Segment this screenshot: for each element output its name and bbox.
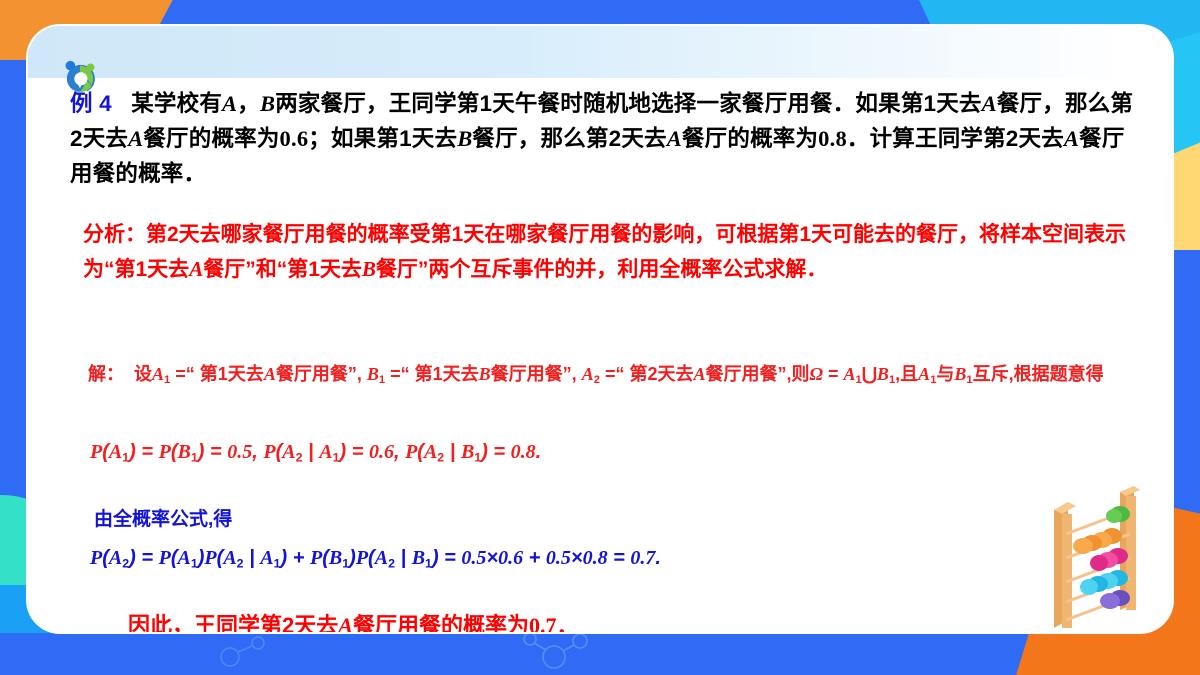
f2-A2: A bbox=[109, 547, 122, 569]
slide-content: 例 4 某学校有A，B两家餐厅，王同学第1天午餐时随机地选择一家餐厅用餐．如果第… bbox=[28, 26, 1174, 634]
solution-var-B: B bbox=[479, 364, 491, 384]
f1-B1-sub: 1 bbox=[191, 450, 198, 464]
f1-bar2: | bbox=[450, 441, 456, 463]
solution-event-A2-sub: 2 bbox=[594, 374, 600, 386]
solution-desc-1-end: 餐厅用餐 bbox=[276, 364, 348, 384]
solution-excl-A1: A bbox=[918, 364, 930, 384]
f2-A1b-sub: 1 bbox=[274, 556, 281, 570]
solution-line2-var: A bbox=[694, 364, 706, 384]
solution-set-word: 设 bbox=[134, 364, 152, 384]
solution-omega: Ω bbox=[810, 364, 823, 384]
solution-event-A2: A bbox=[582, 364, 594, 384]
formula-total-probability: P(A2) = P(A1)P(A2 | A1) + P(B1)P(A2 | B1… bbox=[90, 547, 1090, 570]
problem-text-6: ；如果第1天去 bbox=[308, 126, 457, 151]
abacus-illustration-icon bbox=[1042, 480, 1154, 630]
solution-desc-2-end: 餐厅用餐 bbox=[491, 364, 563, 384]
solution-per-problem: ,根据题意得 bbox=[1009, 364, 1104, 384]
problem-value-06: 0.6 bbox=[280, 126, 309, 151]
f1-A2b-sub: 2 bbox=[437, 450, 444, 464]
solution-eq-3: = bbox=[605, 364, 616, 384]
f1-A2b: A bbox=[424, 441, 437, 463]
f2-P1: P bbox=[90, 547, 102, 569]
problem-value-08: 0.8 bbox=[818, 126, 847, 151]
f2-bar2: | bbox=[401, 547, 407, 569]
solution-union-icon: ⋃ bbox=[862, 364, 877, 384]
f2-B1-sub: 1 bbox=[342, 556, 349, 570]
solution-eq-4: = bbox=[828, 364, 839, 384]
example-label: 例 4 bbox=[70, 91, 112, 116]
problem-comma: ， bbox=[237, 91, 260, 116]
f2-eq1: = bbox=[141, 547, 153, 569]
f1-P3: P bbox=[263, 441, 275, 463]
f1-A1b: A bbox=[319, 441, 332, 463]
solution-desc-1: 第1天去 bbox=[200, 364, 264, 384]
f2-A2b: A bbox=[223, 547, 236, 569]
f2-P3: P bbox=[204, 547, 216, 569]
analysis-heading: 分析： bbox=[83, 223, 146, 246]
f1-eq2: = bbox=[210, 441, 222, 463]
conclusion-period: ． bbox=[556, 613, 578, 634]
f2-val-08: 0.8 bbox=[583, 547, 608, 569]
solution-quote-close-3: ” bbox=[778, 364, 787, 384]
f1-P2: P bbox=[159, 441, 171, 463]
solution-setup-block: 解： 设A1 =“ 第1天去A餐厅用餐”, B1 =“ 第1天去B餐厅用餐”, … bbox=[88, 354, 1118, 400]
f1-P1: P bbox=[90, 441, 102, 463]
f2-plus: + bbox=[293, 547, 305, 569]
conclusion-var-A: A bbox=[338, 613, 353, 634]
solution-heading: 解： bbox=[88, 364, 124, 384]
f2-P5: P bbox=[356, 547, 368, 569]
f2-P2: P bbox=[159, 547, 171, 569]
problem-text-3: 餐．如果第1天去 bbox=[810, 91, 982, 116]
f2-A1: A bbox=[178, 547, 191, 569]
analysis-line-2b: 餐厅”和“第1天去 bbox=[203, 258, 362, 281]
problem-text-8: 厅，那么第2天去 bbox=[495, 126, 667, 151]
problem-text-5: 餐厅的概率为 bbox=[143, 126, 279, 151]
problem-text-2: 两家餐厅，王同学第1天午餐时随机地选择一家餐厅用 bbox=[275, 91, 810, 116]
f2-A2c-sub: 2 bbox=[388, 556, 395, 570]
f1-A2: A bbox=[282, 441, 295, 463]
f2-A1b: A bbox=[260, 547, 273, 569]
solution-desc-3-head: 第 bbox=[629, 364, 647, 384]
f2-eq2: = bbox=[444, 547, 456, 569]
solution-comma-2: , bbox=[572, 364, 577, 384]
f1-A2-sub: 2 bbox=[296, 450, 303, 464]
solution-comma-1: , bbox=[357, 364, 362, 384]
f2-B1b: B bbox=[412, 547, 425, 569]
analysis-line-3: 件的并，利用全概率公式求解． bbox=[533, 258, 827, 281]
problem-var-B2: B bbox=[457, 126, 472, 151]
f2-A2c: A bbox=[375, 547, 388, 569]
solution-var-A: A bbox=[264, 364, 276, 384]
f1-period: . bbox=[536, 441, 542, 463]
f1-c1: , bbox=[252, 441, 258, 463]
solution-quote-open-3: “ bbox=[615, 364, 624, 384]
f1-c2: , bbox=[394, 441, 400, 463]
problem-text-10: ．计算王同学第2天去 bbox=[847, 126, 1064, 151]
f1-eq4: = bbox=[493, 441, 505, 463]
f2-P4: P bbox=[310, 547, 322, 569]
conclusion-text-a: 因此，王同学第2天去 bbox=[128, 613, 338, 634]
solution-omega-A1: A bbox=[844, 364, 856, 384]
f1-A1: A bbox=[109, 441, 122, 463]
f2-val-05a: 0.5 bbox=[461, 547, 486, 569]
f2-B1: B bbox=[329, 547, 342, 569]
f1-B1b-sub: 1 bbox=[474, 450, 481, 464]
f2-val-05b: 0.5 bbox=[546, 547, 571, 569]
formula-given-probabilities: P(A1) = P(B1) = 0.5, P(A2 | A1) = 0.6, P… bbox=[90, 441, 1090, 464]
solution-quote-open-2: “ bbox=[401, 364, 410, 384]
solution-event-A1-sub: 1 bbox=[164, 374, 170, 386]
problem-var-A4: A bbox=[667, 126, 682, 151]
f2-A1-sub: 1 bbox=[191, 556, 198, 570]
solution-then-word: 则 bbox=[792, 364, 810, 384]
f2-A2b-sub: 2 bbox=[237, 556, 244, 570]
analysis-line-2c: 餐厅”两个互斥事 bbox=[376, 258, 534, 281]
f1-val-08: 0.8 bbox=[511, 441, 536, 463]
analysis-line-1: 第2天去哪家餐厅用餐的概率受第1天在哪家餐厅用餐的影响，可根据第1天可 bbox=[146, 223, 853, 246]
problem-text-7: 餐 bbox=[472, 126, 495, 151]
problem-var-A: A bbox=[222, 91, 237, 116]
problem-var-A3: A bbox=[128, 126, 143, 151]
problem-statement: 例 4 某学校有A，B两家餐厅，王同学第1天午餐时随机地选择一家餐厅用餐．如果第… bbox=[70, 86, 1140, 191]
f2-B1b-sub: 1 bbox=[425, 556, 432, 570]
f2-times1: × bbox=[486, 547, 498, 569]
f1-val-06: 0.6 bbox=[369, 441, 394, 463]
f2-times2: × bbox=[571, 547, 583, 569]
solution-desc-2: 第1天去 bbox=[415, 364, 479, 384]
analysis-block: 分析：第2天去哪家餐厅用餐的概率受第1天在哪家餐厅用餐的影响，可根据第1天可能去… bbox=[83, 218, 1133, 287]
solution-line2-desc: 2天去 bbox=[647, 364, 693, 384]
solution-quote-close-1: ” bbox=[348, 364, 357, 384]
problem-var-B: B bbox=[260, 91, 275, 116]
solution-event-B1: B bbox=[367, 364, 379, 384]
solution-and-word: 且 bbox=[900, 364, 918, 384]
f1-eq1: = bbox=[141, 441, 153, 463]
f2-period: . bbox=[655, 547, 661, 569]
f1-bar1: | bbox=[308, 441, 314, 463]
f2-plus2: + bbox=[529, 547, 541, 569]
molecule-decor-icon-2 bbox=[200, 631, 310, 671]
f2-bar1: | bbox=[249, 547, 255, 569]
problem-var-A5: A bbox=[1064, 126, 1079, 151]
solution-eq-2: = bbox=[390, 364, 401, 384]
solution-eq-1: = bbox=[175, 364, 186, 384]
slide-card: 例 4 某学校有A，B两家餐厅，王同学第1天午餐时随机地选择一家餐厅用餐．如果第… bbox=[26, 24, 1174, 634]
f1-val-05: 0.5 bbox=[227, 441, 252, 463]
problem-text-1: 某学校有 bbox=[131, 91, 222, 116]
by-total-probability-label: 由全概率公式,得 bbox=[94, 504, 232, 531]
solution-event-A1: A bbox=[152, 364, 164, 384]
f1-B1b: B bbox=[461, 441, 474, 463]
solution-quote-open-1: “ bbox=[186, 364, 195, 384]
problem-text-9: 餐厅的概率为 bbox=[682, 126, 818, 151]
solution-event-B1-sub: 1 bbox=[379, 374, 385, 386]
f1-P4: P bbox=[405, 441, 417, 463]
f1-A1-sub: 1 bbox=[122, 450, 129, 464]
conclusion-text-b: 餐厅用餐的概率为 bbox=[353, 613, 529, 634]
solution-line2-desc-end: 餐厅用餐 bbox=[706, 364, 778, 384]
analysis-var-A: A bbox=[189, 257, 203, 281]
solution-exclusive-word: 互斥 bbox=[973, 364, 1009, 384]
f2-result: 0.7 bbox=[630, 547, 655, 569]
solution-with-word: 与 bbox=[936, 364, 954, 384]
f1-eq3: = bbox=[352, 441, 364, 463]
solution-quote-close-2: ” bbox=[563, 364, 572, 384]
conclusion-block: 因此，王同学第2天去A餐厅用餐的概率为0.7． bbox=[128, 608, 1128, 634]
analysis-var-B: B bbox=[362, 257, 376, 281]
problem-var-A2: A bbox=[982, 91, 997, 116]
solution-omega-B1: B bbox=[877, 364, 889, 384]
f2-A2-sub: 2 bbox=[122, 556, 129, 570]
f2-val-06: 0.6 bbox=[498, 547, 523, 569]
f1-B1: B bbox=[178, 441, 191, 463]
solution-excl-B1: B bbox=[954, 364, 966, 384]
f1-A1b-sub: 1 bbox=[333, 450, 340, 464]
conclusion-value: 0.7 bbox=[529, 613, 557, 634]
f2-eq3: = bbox=[613, 547, 625, 569]
